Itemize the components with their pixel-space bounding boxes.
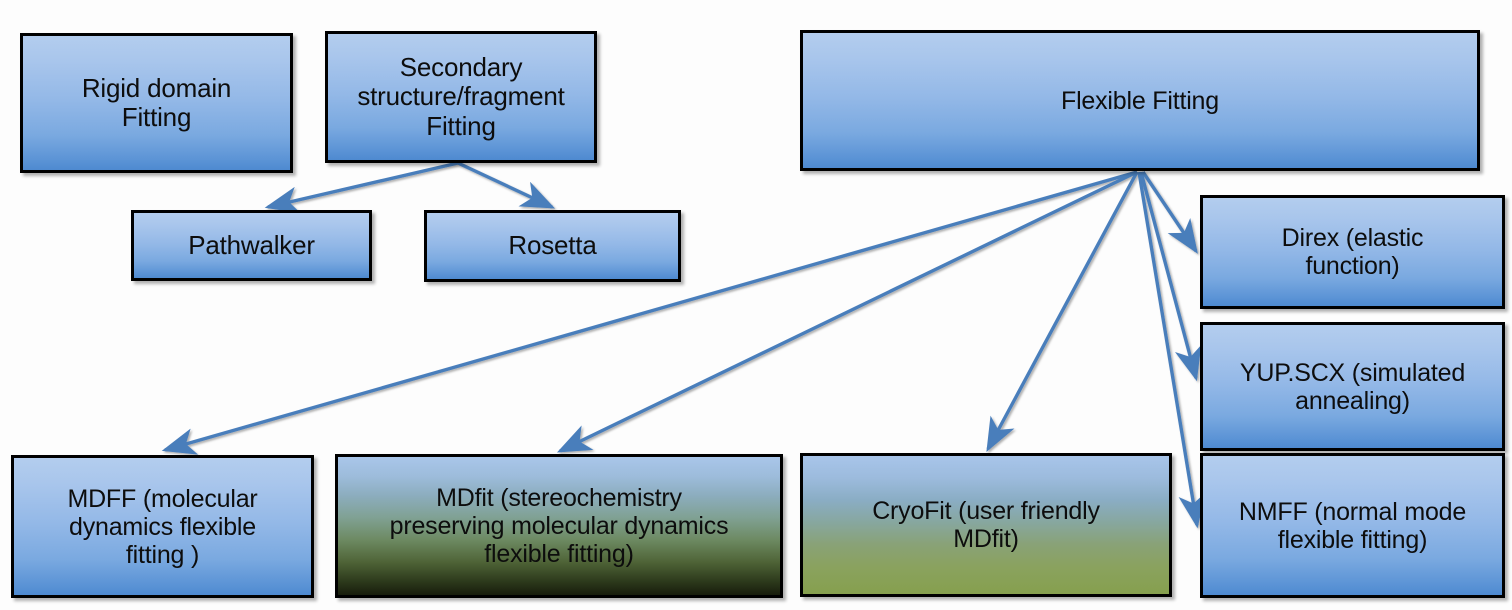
node-direx[interactable]: Direx (elastic function) <box>1200 195 1505 309</box>
node-label: Pathwalker <box>142 231 361 260</box>
diagram-canvas: Rigid domain Fitting Secondary structure… <box>0 0 1512 610</box>
connector-flexible-to-yupscx <box>1141 172 1196 378</box>
node-label: Rosetta <box>435 231 670 260</box>
node-label: MDfit (stereochemistry preserving molecu… <box>346 484 772 568</box>
connector-flexible-to-direx <box>1143 172 1196 251</box>
node-label: Flexible Fitting <box>811 87 1469 115</box>
node-pathwalker[interactable]: Pathwalker <box>131 210 372 281</box>
node-label: MDFF (molecular dynamics flexible fittin… <box>22 485 303 569</box>
node-nmff[interactable]: NMFF (normal mode flexible fitting) <box>1200 453 1505 598</box>
node-label: Secondary structure/fragment Fitting <box>336 53 586 140</box>
connector-flexible-to-cryofit <box>988 172 1137 449</box>
node-cryofit[interactable]: CryoFit (user friendly MDfit) <box>800 453 1172 597</box>
node-secondary-structure-fragment-fitting[interactable]: Secondary structure/fragment Fitting <box>325 31 597 163</box>
node-label: Rigid domain Fitting <box>31 74 282 132</box>
node-label: NMFF (normal mode flexible fitting) <box>1211 498 1494 554</box>
node-yup-scx[interactable]: YUP.SCX (simulated annealing) <box>1200 322 1505 451</box>
node-label: Direx (elastic function) <box>1211 224 1494 280</box>
node-rosetta[interactable]: Rosetta <box>424 210 681 282</box>
node-rigid-domain-fitting[interactable]: Rigid domain Fitting <box>20 33 293 173</box>
node-mdfit[interactable]: MDfit (stereochemistry preserving molecu… <box>335 454 783 598</box>
node-label: CryoFit (user friendly MDfit) <box>811 497 1161 553</box>
connector-secondary-to-pathwalker <box>268 163 458 207</box>
node-mdff[interactable]: MDFF (molecular dynamics flexible fittin… <box>11 455 314 598</box>
node-flexible-fitting[interactable]: Flexible Fitting <box>800 30 1480 171</box>
connector-secondary-to-rosetta <box>458 163 552 207</box>
node-label: YUP.SCX (simulated annealing) <box>1211 359 1494 415</box>
